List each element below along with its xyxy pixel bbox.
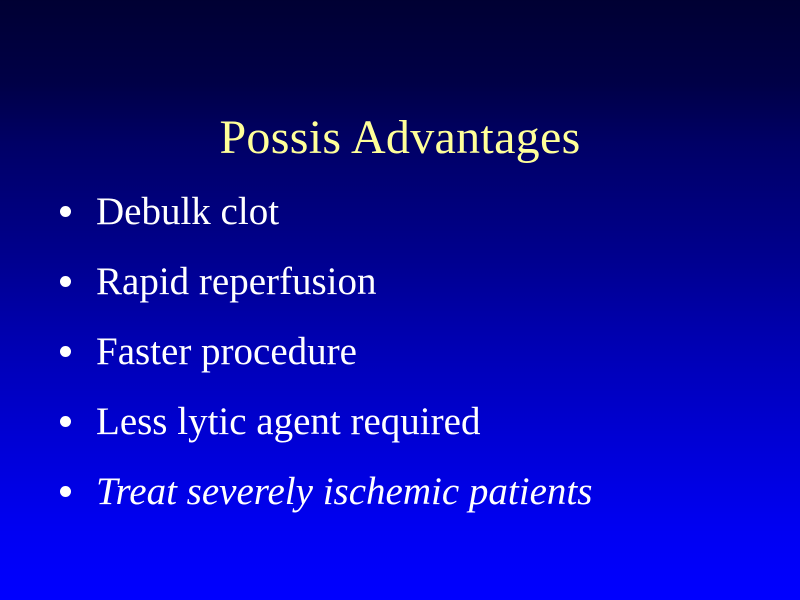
list-item: Rapid reperfusion (58, 256, 778, 326)
list-item: Treat severely ischemic patients (58, 466, 778, 536)
bullet-dot-icon (60, 276, 71, 287)
bullet-dot-icon (60, 486, 71, 497)
list-item: Faster procedure (58, 326, 778, 396)
list-item-label: Less lytic agent required (96, 396, 480, 448)
list-item-label: Faster procedure (96, 326, 357, 378)
presentation-slide: Possis Advantages Debulk clot Rapid repe… (0, 0, 800, 600)
bullet-dot-icon (60, 206, 71, 217)
list-item-label: Treat severely ischemic patients (96, 466, 592, 518)
list-item-label: Rapid reperfusion (96, 256, 377, 308)
bullet-dot-icon (60, 416, 71, 427)
list-item-label: Debulk clot (96, 186, 279, 238)
bullet-list: Debulk clot Rapid reperfusion Faster pro… (58, 186, 778, 536)
list-item: Less lytic agent required (58, 396, 778, 466)
bullet-dot-icon (60, 346, 71, 357)
list-item: Debulk clot (58, 186, 778, 256)
page-title: Possis Advantages (0, 110, 800, 166)
